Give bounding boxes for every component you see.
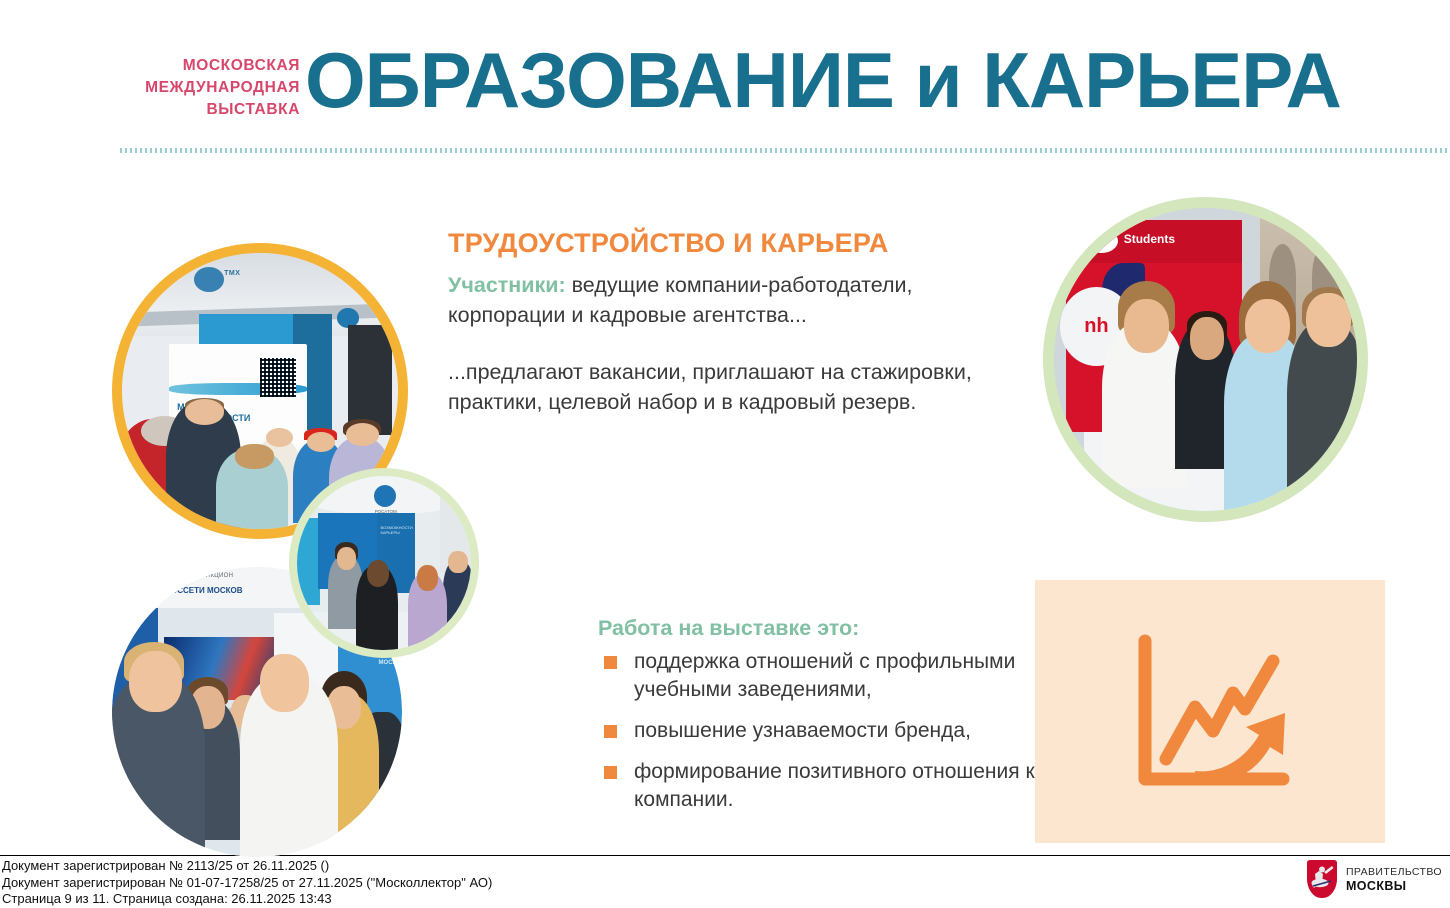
document-registration-footer: Документ зарегистрирован № 2113/25 от 26… <box>2 858 492 908</box>
growth-chart-arrow-icon <box>1133 631 1299 791</box>
gov-line-1: ПРАВИТЕЛЬСТВО <box>1346 865 1442 879</box>
brand-line-2: МЕЖДУНАРОДНАЯ <box>60 77 300 99</box>
offer-paragraph: ...предлагают вакансии, приглашают на ст… <box>448 357 1008 417</box>
participants-label: Участники: <box>448 273 566 297</box>
list-item: повышение узнаваемости бренда, <box>598 717 1118 745</box>
moscow-coat-of-arms-icon <box>1307 860 1337 898</box>
photo-hh-students-stand: Students <box>1043 197 1368 522</box>
bullet-square-icon <box>604 725 617 738</box>
work-text-block: Работа на выставке это: поддержка отноше… <box>598 616 1118 827</box>
photo-rosatom-image: РОСАТОМ ВОЗМОЖНОСТИКАРЬЕРЫ РОСАТ <box>297 476 471 650</box>
page-title: ОБРАЗОВАНИЕ и КАРЬЕРА <box>305 38 1341 122</box>
brand-line-1: МОСКОВСКАЯ <box>60 55 300 77</box>
photo-rosatom-stand: РОСАТОМ ВОЗМОЖНОСТИКАРЬЕРЫ РОСАТ <box>289 468 479 658</box>
list-item-label: повышение узнаваемости бренда, <box>634 719 971 742</box>
photo-hh-image: Students <box>1054 208 1357 511</box>
career-heading: ТРУДОУСТРОЙСТВО И КАРЬЕРА <box>448 228 1008 259</box>
participants-paragraph: Участники: ведущие компании-работодатели… <box>448 270 1008 330</box>
list-item-label: формирование позитивного отношения к ком… <box>634 760 1035 811</box>
bullet-square-icon <box>604 766 617 779</box>
work-heading: Работа на выставке это: <box>598 616 1118 641</box>
moscow-government-logo: ПРАВИТЕЛЬСТВО МОСКВЫ <box>1307 860 1442 898</box>
footer-line-3: Страница 9 из 11. Страница создана: 26.1… <box>2 891 492 908</box>
work-bullet-list: поддержка отношений с профильными учебны… <box>598 648 1118 814</box>
brand-line-3: ВЫСТАВКА <box>60 99 300 121</box>
list-item: формирование позитивного отношения к ком… <box>598 758 1118 814</box>
bullet-square-icon <box>604 656 617 669</box>
footer-line-2: Документ зарегистрирован № 01-07-17258/2… <box>2 875 492 892</box>
moscow-government-label: ПРАВИТЕЛЬСТВО МОСКВЫ <box>1346 865 1442 893</box>
gov-line-2: МОСКВЫ <box>1346 879 1442 893</box>
exhibition-brand-lines: МОСКОВСКАЯ МЕЖДУНАРОДНАЯ ВЫСТАВКА <box>60 55 300 121</box>
footer-line-1: Документ зарегистрирован № 2113/25 от 26… <box>2 858 492 875</box>
slide-header: МОСКОВСКАЯ МЕЖДУНАРОДНАЯ ВЫСТАВКА ОБРАЗО… <box>0 0 1450 160</box>
list-item-label: поддержка отношений с профильными учебны… <box>634 650 1015 701</box>
career-text-block: ТРУДОУСТРОЙСТВО И КАРЬЕРА Участники: вед… <box>448 228 1008 417</box>
list-item: поддержка отношений с профильными учебны… <box>598 648 1118 704</box>
header-dotted-divider <box>120 148 1450 153</box>
